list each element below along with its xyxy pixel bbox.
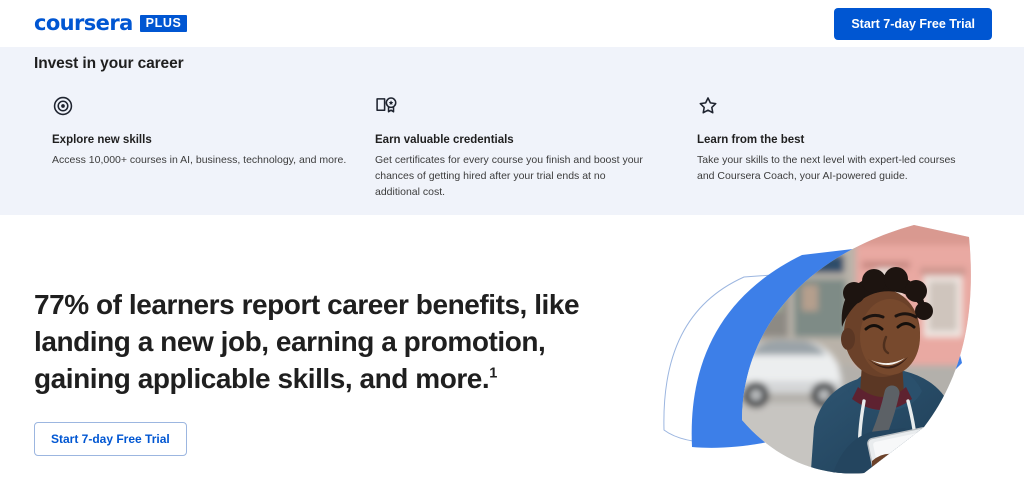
header-start-free-trial-button[interactable]: Start 7-day Free Trial xyxy=(834,8,992,40)
hero-footnote-marker: 1 xyxy=(489,366,497,382)
benefit-body: Get certificates for every course you fi… xyxy=(375,152,650,201)
coursera-plus-logo[interactable]: coursera PLUS xyxy=(34,13,187,34)
plus-badge: PLUS xyxy=(140,15,188,33)
certificate-icon xyxy=(375,95,650,117)
benefits-section: Invest in your career Explore new skills… xyxy=(0,47,1024,215)
hero-headline: 77% of learners report career benefits, … xyxy=(34,287,604,398)
page-root: coursera PLUS Start 7-day Free Trial Inv… xyxy=(0,0,1024,484)
hero-copy: 77% of learners report career benefits, … xyxy=(34,287,604,456)
hero-section: 77% of learners report career benefits, … xyxy=(0,215,1024,484)
benefit-body: Take your skills to the next level with … xyxy=(697,152,972,185)
benefit-item-earn-valuable-credentials: Earn valuable credentials Get certificat… xyxy=(375,95,650,201)
site-header: coursera PLUS Start 7-day Free Trial xyxy=(0,0,1024,47)
benefit-heading: Earn valuable credentials xyxy=(375,133,650,148)
benefit-heading: Learn from the best xyxy=(697,133,972,148)
benefits-section-title: Invest in your career xyxy=(34,55,184,73)
target-icon xyxy=(52,95,352,117)
hero-start-free-trial-button[interactable]: Start 7-day Free Trial xyxy=(34,422,187,456)
benefit-item-explore-new-skills: Explore new skills Access 10,000+ course… xyxy=(52,95,352,168)
benefit-item-learn-from-the-best: Learn from the best Take your skills to … xyxy=(697,95,972,184)
coursera-wordmark: coursera xyxy=(34,13,133,34)
star-icon xyxy=(697,95,972,117)
benefit-heading: Explore new skills xyxy=(52,133,352,148)
benefit-body: Access 10,000+ courses in AI, business, … xyxy=(52,152,352,168)
hero-collage-image xyxy=(624,215,1024,484)
hero-headline-text: 77% of learners report career benefits, … xyxy=(34,289,579,394)
hero-photo xyxy=(724,215,996,484)
